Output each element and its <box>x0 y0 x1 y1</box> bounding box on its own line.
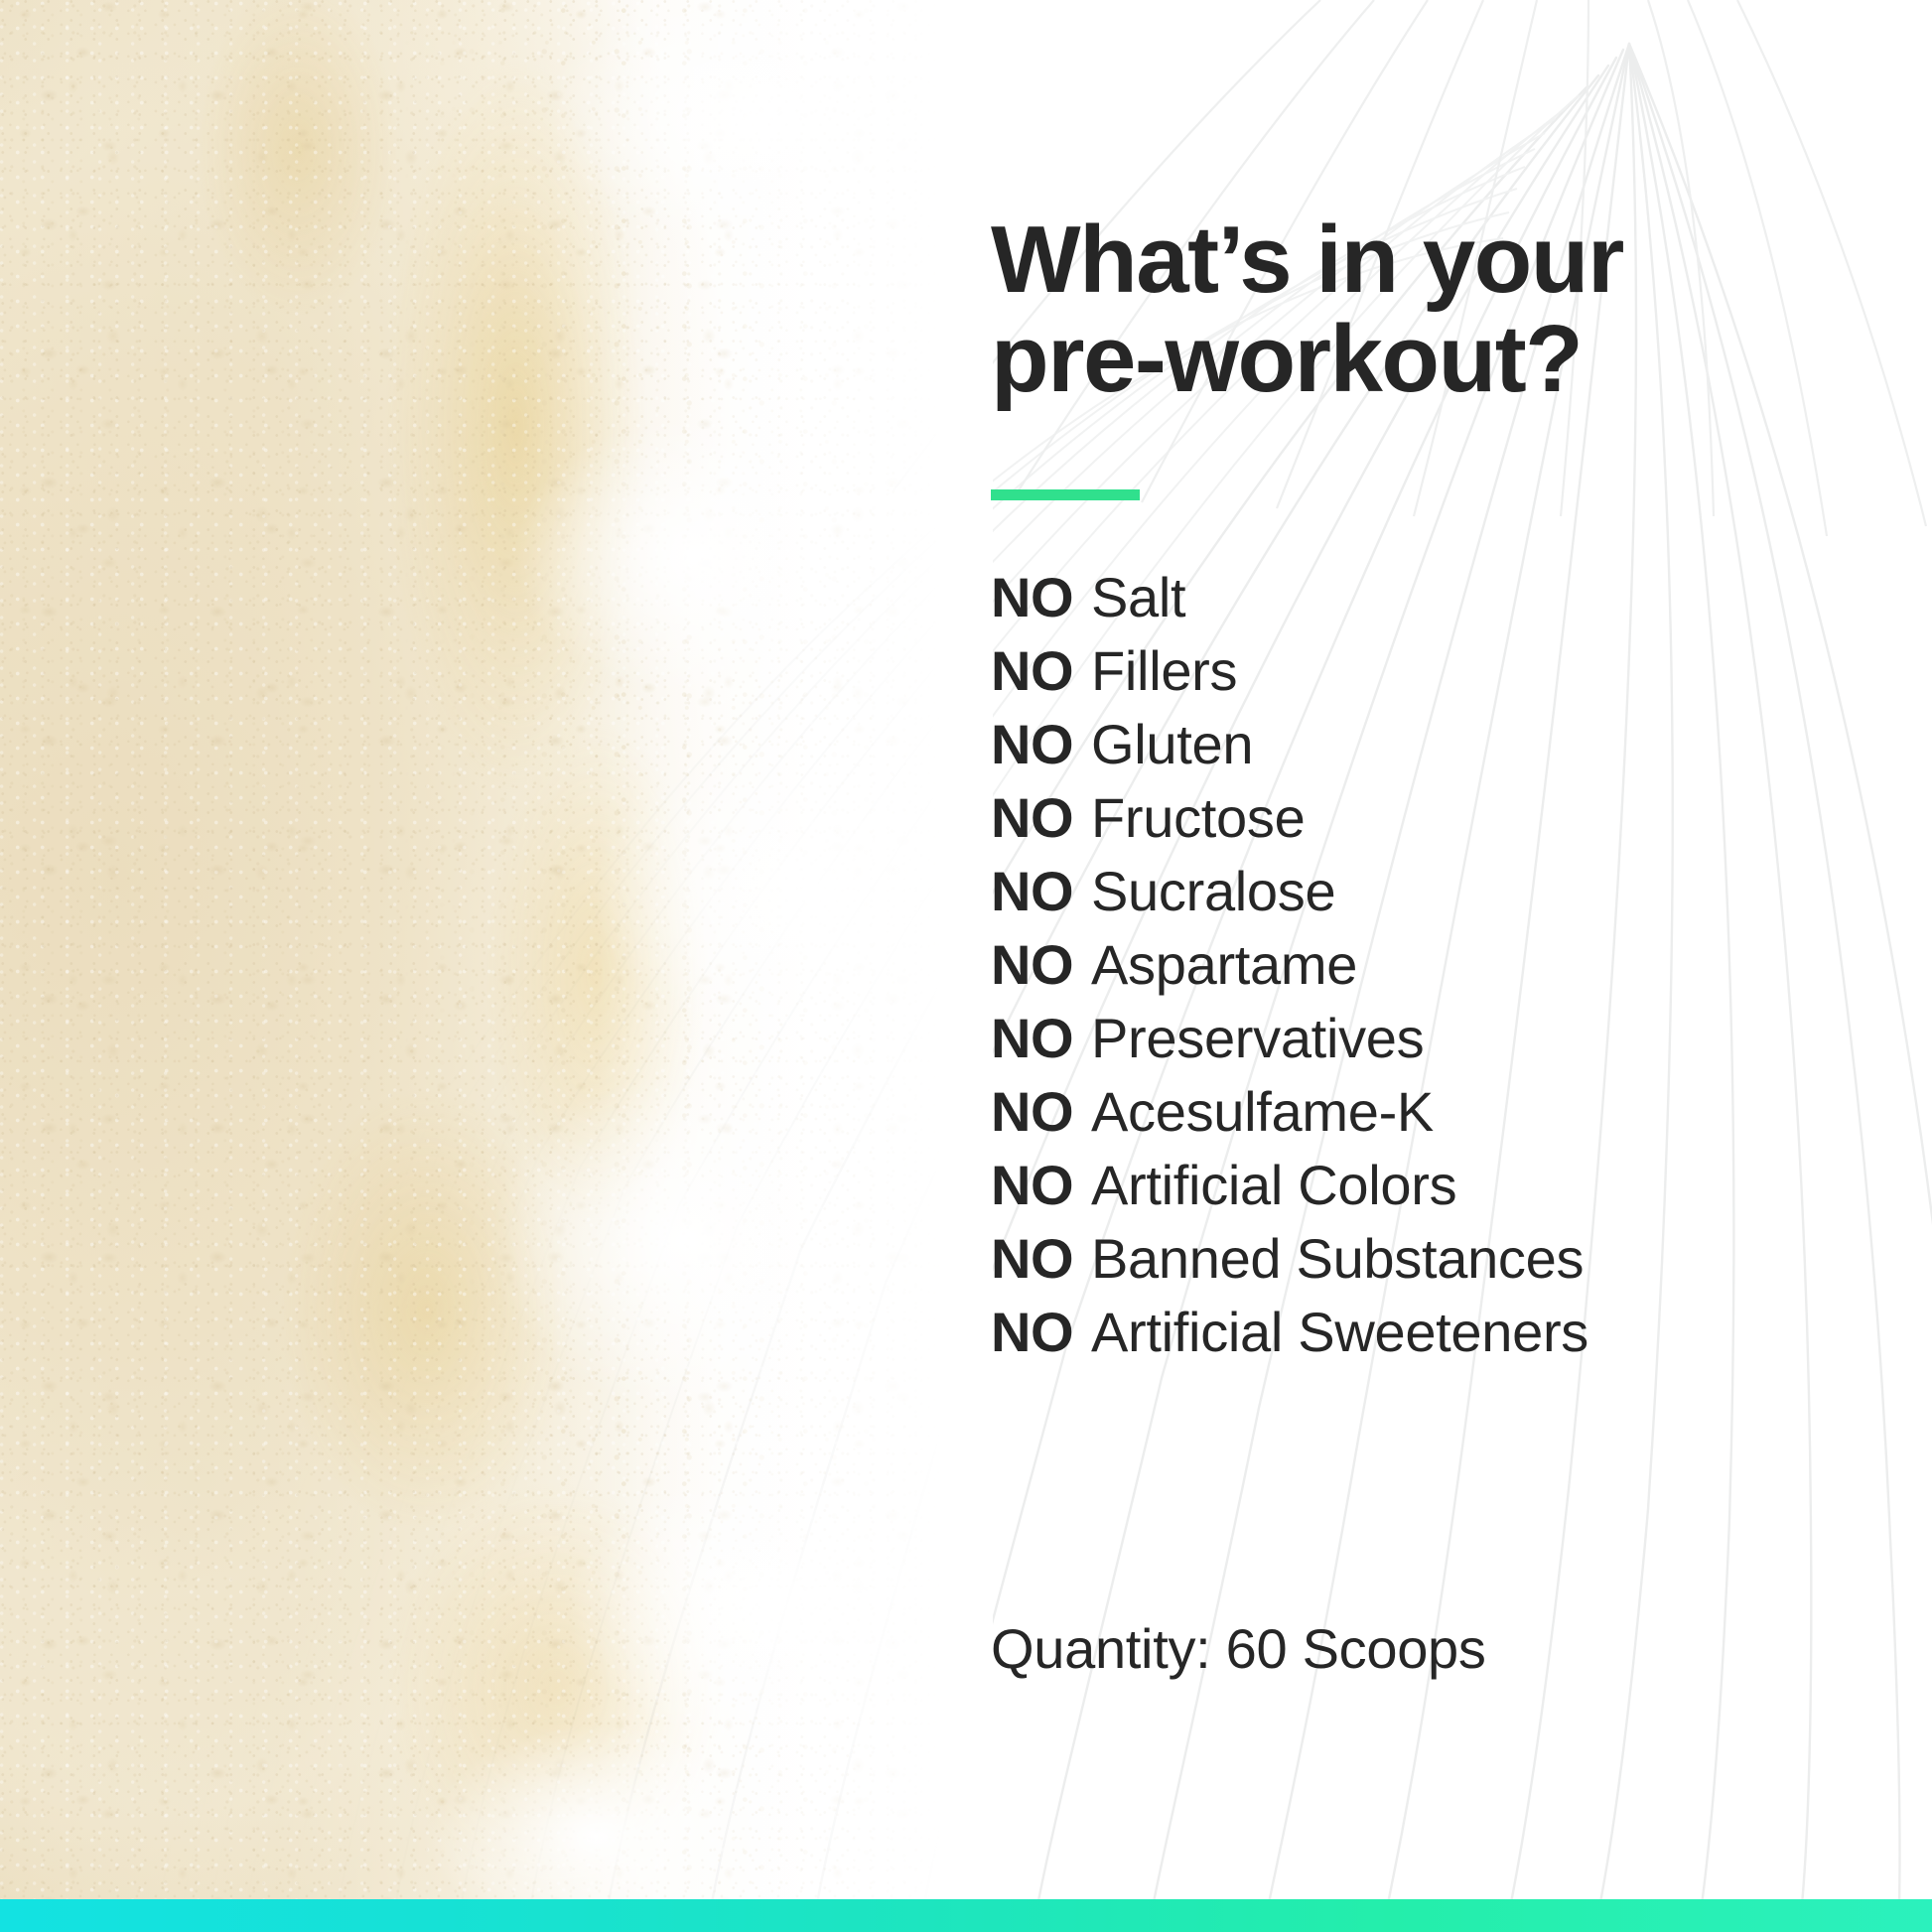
exclusion-label: Sucralose <box>1091 860 1335 922</box>
no-prefix-label: NO <box>991 639 1073 702</box>
list-item: NOAspartame <box>991 928 1588 1002</box>
content-column: What’s in your pre-workout? NOSalt NOFil… <box>991 0 1884 1899</box>
list-item: NOSucralose <box>991 855 1588 928</box>
list-item: NOBanned Substances <box>991 1222 1588 1296</box>
list-item: NOFructose <box>991 781 1588 855</box>
exclusion-label: Acesulfame-K <box>1091 1080 1434 1143</box>
exclusion-label: Banned Substances <box>1091 1227 1584 1290</box>
no-prefix-label: NO <box>991 860 1073 922</box>
exclusion-label: Aspartame <box>1091 933 1357 996</box>
list-item: NOArtificial Colors <box>991 1149 1588 1222</box>
no-prefix-label: NO <box>991 1154 1073 1216</box>
no-prefix-label: NO <box>991 566 1073 628</box>
no-prefix-label: NO <box>991 933 1073 996</box>
no-prefix-label: NO <box>991 1080 1073 1143</box>
no-prefix-label: NO <box>991 786 1073 849</box>
powder-texture-image <box>0 0 993 1899</box>
accent-divider <box>991 489 1140 500</box>
exclusion-label: Gluten <box>1091 713 1253 775</box>
exclusion-label: Artificial Sweeteners <box>1091 1301 1588 1363</box>
no-prefix-label: NO <box>991 1227 1073 1290</box>
exclusion-label: Fillers <box>1091 639 1237 702</box>
list-item: NOFillers <box>991 634 1588 708</box>
ingredient-exclusion-list: NOSalt NOFillers NOGluten NOFructose NOS… <box>991 561 1588 1369</box>
list-item: NOSalt <box>991 561 1588 634</box>
exclusion-label: Artificial Colors <box>1091 1154 1456 1216</box>
exclusion-label: Preservatives <box>1091 1007 1424 1069</box>
promo-card: What’s in your pre-workout? NOSalt NOFil… <box>0 0 1932 1932</box>
list-item: NOArtificial Sweeteners <box>991 1296 1588 1369</box>
list-item: NOAcesulfame-K <box>991 1075 1588 1149</box>
no-prefix-label: NO <box>991 713 1073 775</box>
quantity-label: Quantity: 60 Scoops <box>991 1616 1486 1681</box>
no-prefix-label: NO <box>991 1301 1073 1363</box>
list-item: NOGluten <box>991 708 1588 781</box>
exclusion-label: Fructose <box>1091 786 1305 849</box>
exclusion-label: Salt <box>1091 566 1185 628</box>
bottom-gradient-bar <box>0 1899 1932 1932</box>
powder-feathered-edge <box>0 0 993 1899</box>
page-title: What’s in your pre-workout? <box>991 210 1623 409</box>
list-item: NOPreservatives <box>991 1002 1588 1075</box>
no-prefix-label: NO <box>991 1007 1073 1069</box>
